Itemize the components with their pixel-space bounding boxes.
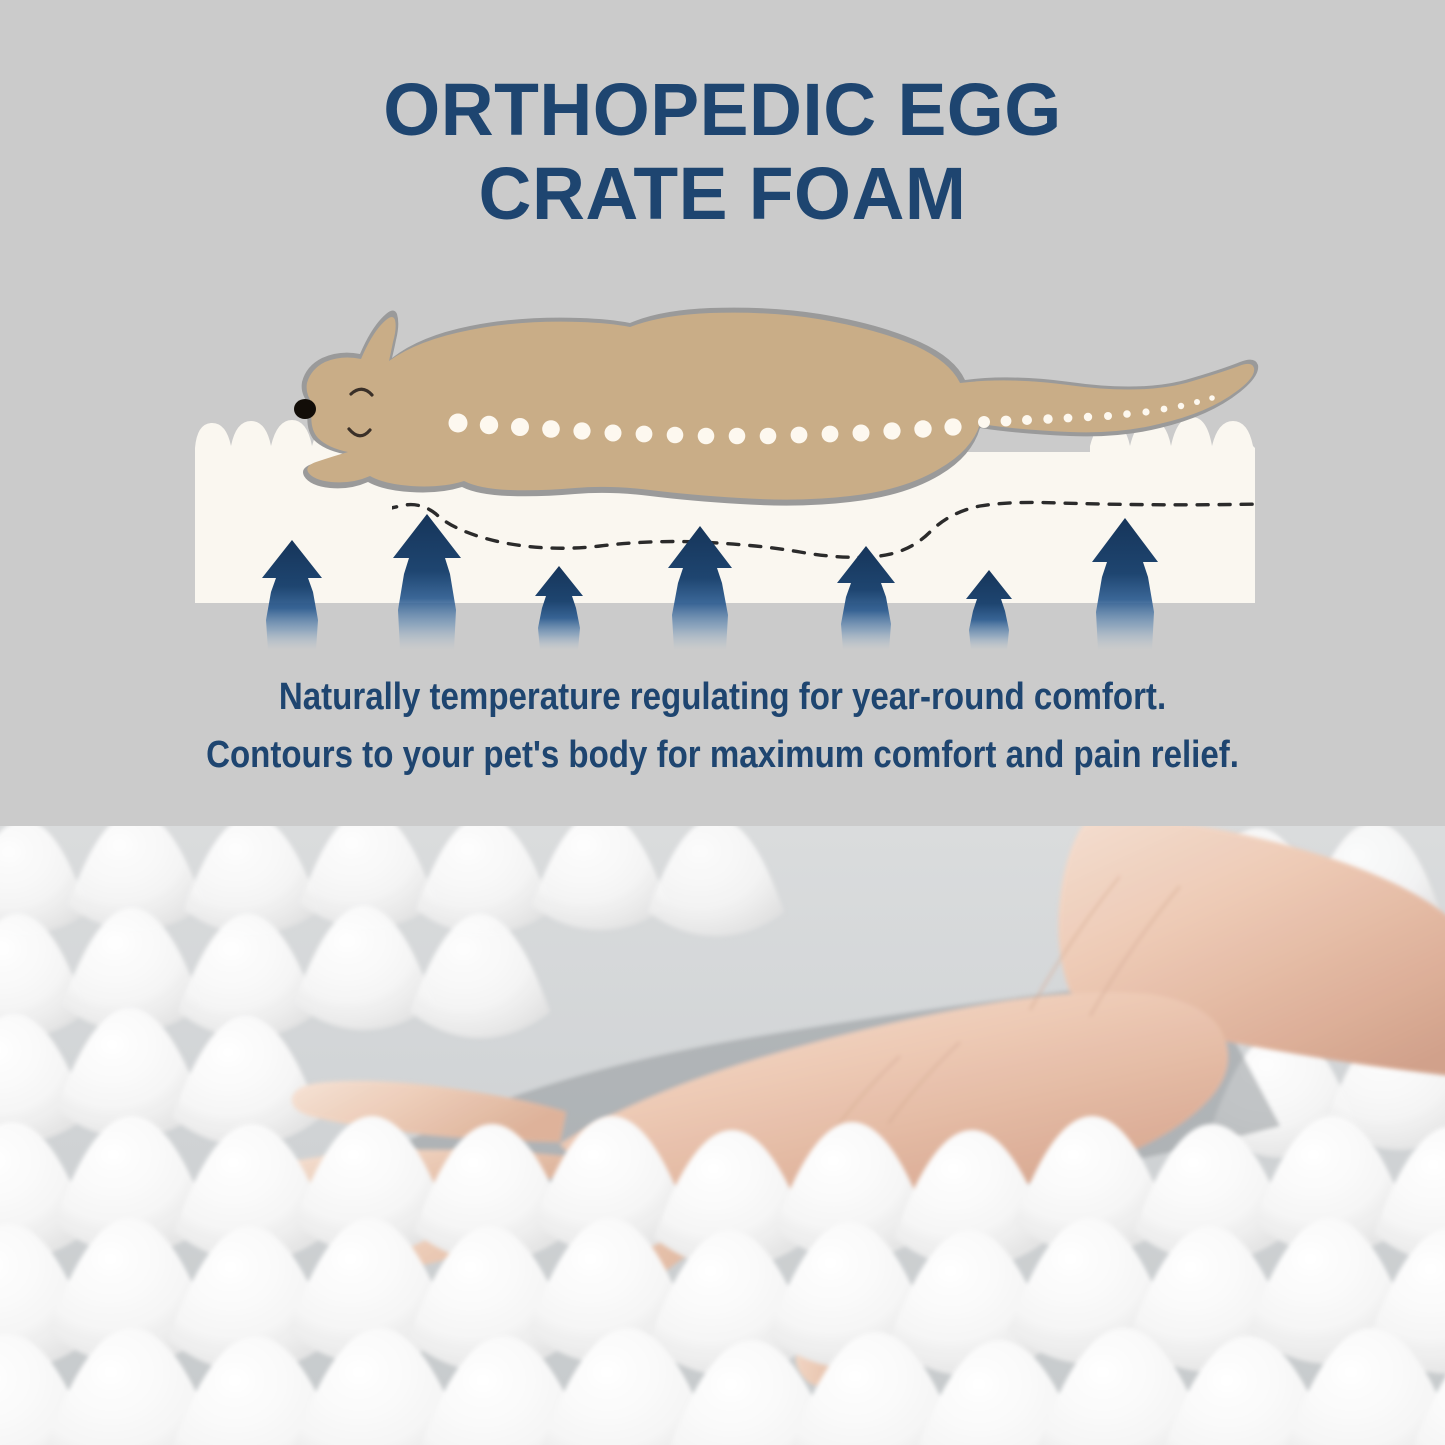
body-line-1: Naturally temperature regulating for yea… bbox=[94, 668, 1351, 726]
page-title: ORTHOPEDIC EGG CRATE FOAM bbox=[7, 68, 1438, 236]
foam-support-illustration bbox=[0, 270, 1445, 650]
product-infographic: ORTHOPEDIC EGG CRATE FOAM bbox=[0, 0, 1445, 1445]
photo-softening-overlay bbox=[0, 826, 1445, 1445]
dog-nose-icon bbox=[294, 399, 316, 419]
infographic-top-panel: ORTHOPEDIC EGG CRATE FOAM bbox=[0, 0, 1445, 826]
illustration-svg bbox=[0, 270, 1445, 650]
photo-svg bbox=[0, 826, 1445, 1445]
body-copy: Naturally temperature regulating for yea… bbox=[94, 668, 1351, 784]
body-line-2: Contours to your pet's body for maximum … bbox=[94, 726, 1351, 784]
title-line-1: ORTHOPEDIC EGG bbox=[7, 68, 1438, 152]
hand-pressing-egg-crate-foam-photo bbox=[0, 826, 1445, 1445]
title-line-2: CRATE FOAM bbox=[7, 152, 1438, 236]
